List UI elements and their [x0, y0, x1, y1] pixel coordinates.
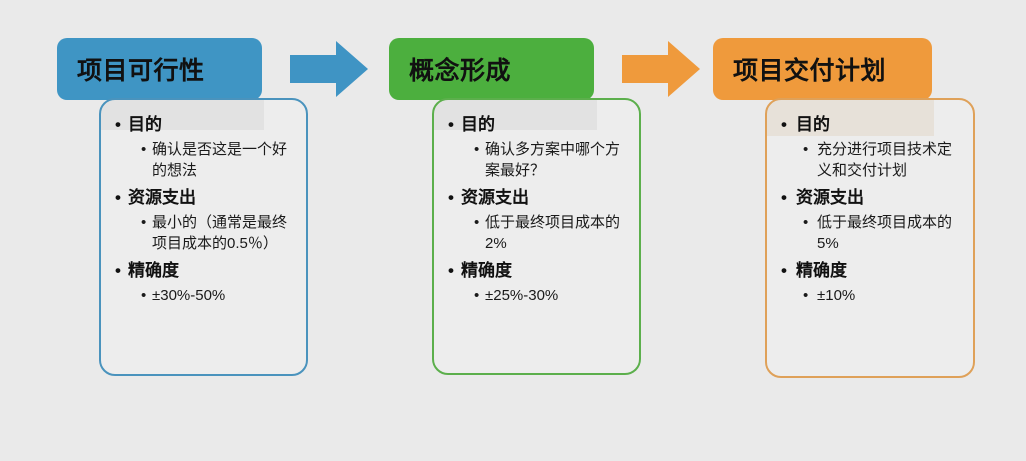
bullet-icon: •: [115, 260, 128, 283]
bullet-icon: •: [781, 260, 796, 283]
detail-group: • 精确度 • ±25%-30%: [448, 260, 625, 306]
detail-group-title: 目的: [796, 114, 830, 137]
detail-sub-item: • 最小的（通常是最终项目成本的0.5％）: [141, 212, 292, 254]
bullet-icon: •: [141, 285, 152, 306]
bullet-icon: •: [141, 212, 152, 233]
stage-header-feasibility[interactable]: 项目可行性: [57, 38, 262, 100]
bullet-icon: •: [803, 212, 817, 233]
detail-sub-list: • 确认多方案中哪个方案最好？: [448, 139, 625, 181]
bullet-icon: •: [448, 260, 461, 283]
bullet-icon: •: [115, 187, 128, 210]
detail-sub-item: • 确认是否这是一个好的想法: [141, 139, 292, 181]
stage-detail-list: • 目的 • 充分进行项目技术定义和交付计划 • 资源支出: [781, 114, 959, 306]
detail-group-heading: • 资源支出: [115, 187, 292, 210]
detail-sub-list: • 充分进行项目技术定义和交付计划: [781, 139, 959, 181]
bullet-icon: •: [803, 139, 817, 160]
detail-sub-list: • ±10%: [781, 285, 959, 306]
detail-group: • 目的 • 确认是否这是一个好的想法: [115, 114, 292, 181]
detail-group-heading: • 目的: [781, 114, 959, 137]
detail-group-title: 精确度: [796, 260, 847, 283]
stage-header-delivery-plan[interactable]: 项目交付计划: [713, 38, 932, 100]
detail-group: • 资源支出 • 低于最终项目成本的2%: [448, 187, 625, 254]
stage-card-concept: • 目的 • 确认多方案中哪个方案最好？ • 资源支出: [432, 98, 641, 375]
detail-sub-list: • 最小的（通常是最终项目成本的0.5％）: [115, 212, 292, 254]
detail-group-heading: • 精确度: [448, 260, 625, 283]
detail-sub-item: • 确认多方案中哪个方案最好？: [474, 139, 625, 181]
bullet-icon: •: [141, 139, 152, 160]
detail-group-heading: • 精确度: [115, 260, 292, 283]
detail-sub-text: 低于最终项目成本的2%: [485, 212, 625, 254]
detail-sub-text: 最小的（通常是最终项目成本的0.5％）: [152, 212, 292, 254]
detail-sub-text: 充分进行项目技术定义和交付计划: [817, 139, 959, 181]
detail-sub-list: • 确认是否这是一个好的想法: [115, 139, 292, 181]
detail-group-heading: • 资源支出: [448, 187, 625, 210]
detail-group-title: 精确度: [128, 260, 179, 283]
detail-sub-list: • 低于最终项目成本的2%: [448, 212, 625, 254]
process-flow-diagram: 项目可行性 概念形成 项目交付计划 • 目的: [0, 0, 1026, 461]
detail-sub-item: • ±30%-50%: [141, 285, 292, 306]
detail-group: • 目的 • 确认多方案中哪个方案最好？: [448, 114, 625, 181]
detail-group-title: 资源支出: [128, 187, 196, 210]
stage-header-label: 概念形成: [389, 51, 511, 87]
right-arrow-icon-feasibility-to-concept: [290, 41, 368, 97]
bullet-icon: •: [115, 114, 128, 137]
stage-card-feasibility: • 目的 • 确认是否这是一个好的想法 • 资源支出: [99, 98, 308, 376]
detail-group-heading: • 目的: [448, 114, 625, 137]
detail-group: • 精确度 • ±10%: [781, 260, 959, 306]
detail-sub-item: • ±10%: [803, 285, 959, 306]
detail-sub-item: • ±25%-30%: [474, 285, 625, 306]
bullet-icon: •: [448, 187, 461, 210]
detail-group: • 资源支出 • 低于最终项目成本的5%: [781, 187, 959, 254]
stage-header-concept[interactable]: 概念形成: [389, 38, 594, 100]
stage-detail-list: • 目的 • 确认是否这是一个好的想法 • 资源支出: [115, 114, 292, 306]
detail-group-title: 目的: [128, 114, 162, 137]
detail-sub-list: • ±25%-30%: [448, 285, 625, 306]
detail-group-title: 资源支出: [796, 187, 864, 210]
detail-sub-list: • ±30%-50%: [115, 285, 292, 306]
bullet-icon: •: [781, 187, 796, 210]
bullet-icon: •: [781, 114, 796, 137]
bullet-icon: •: [474, 285, 485, 306]
detail-sub-item: • 低于最终项目成本的2%: [474, 212, 625, 254]
detail-group: • 资源支出 • 最小的（通常是最终项目成本的0.5％）: [115, 187, 292, 254]
detail-group-title: 目的: [461, 114, 495, 137]
detail-group-heading: • 目的: [115, 114, 292, 137]
detail-group-heading: • 精确度: [781, 260, 959, 283]
detail-group: • 目的 • 充分进行项目技术定义和交付计划: [781, 114, 959, 181]
detail-group: • 精确度 • ±30%-50%: [115, 260, 292, 306]
bullet-icon: •: [474, 212, 485, 233]
detail-group-heading: • 资源支出: [781, 187, 959, 210]
detail-sub-text: 低于最终项目成本的5%: [817, 212, 959, 254]
bullet-icon: •: [448, 114, 461, 137]
detail-sub-text: 确认多方案中哪个方案最好？: [485, 139, 625, 181]
stage-header-label: 项目可行性: [57, 51, 205, 87]
detail-sub-text: 确认是否这是一个好的想法: [152, 139, 292, 181]
detail-sub-text: ±10%: [817, 285, 959, 306]
stage-header-label: 项目交付计划: [713, 51, 886, 87]
detail-group-title: 资源支出: [461, 187, 529, 210]
stage-detail-list: • 目的 • 确认多方案中哪个方案最好？ • 资源支出: [448, 114, 625, 306]
stage-card-delivery-plan: • 目的 • 充分进行项目技术定义和交付计划 • 资源支出: [765, 98, 975, 378]
detail-sub-list: • 低于最终项目成本的5%: [781, 212, 959, 254]
right-arrow-icon-concept-to-delivery: [622, 41, 700, 97]
detail-group-title: 精确度: [461, 260, 512, 283]
bullet-icon: •: [803, 285, 817, 306]
detail-sub-text: ±30%-50%: [152, 285, 292, 306]
detail-sub-text: ±25%-30%: [485, 285, 625, 306]
detail-sub-item: • 低于最终项目成本的5%: [803, 212, 959, 254]
detail-sub-item: • 充分进行项目技术定义和交付计划: [803, 139, 959, 181]
bullet-icon: •: [474, 139, 485, 160]
